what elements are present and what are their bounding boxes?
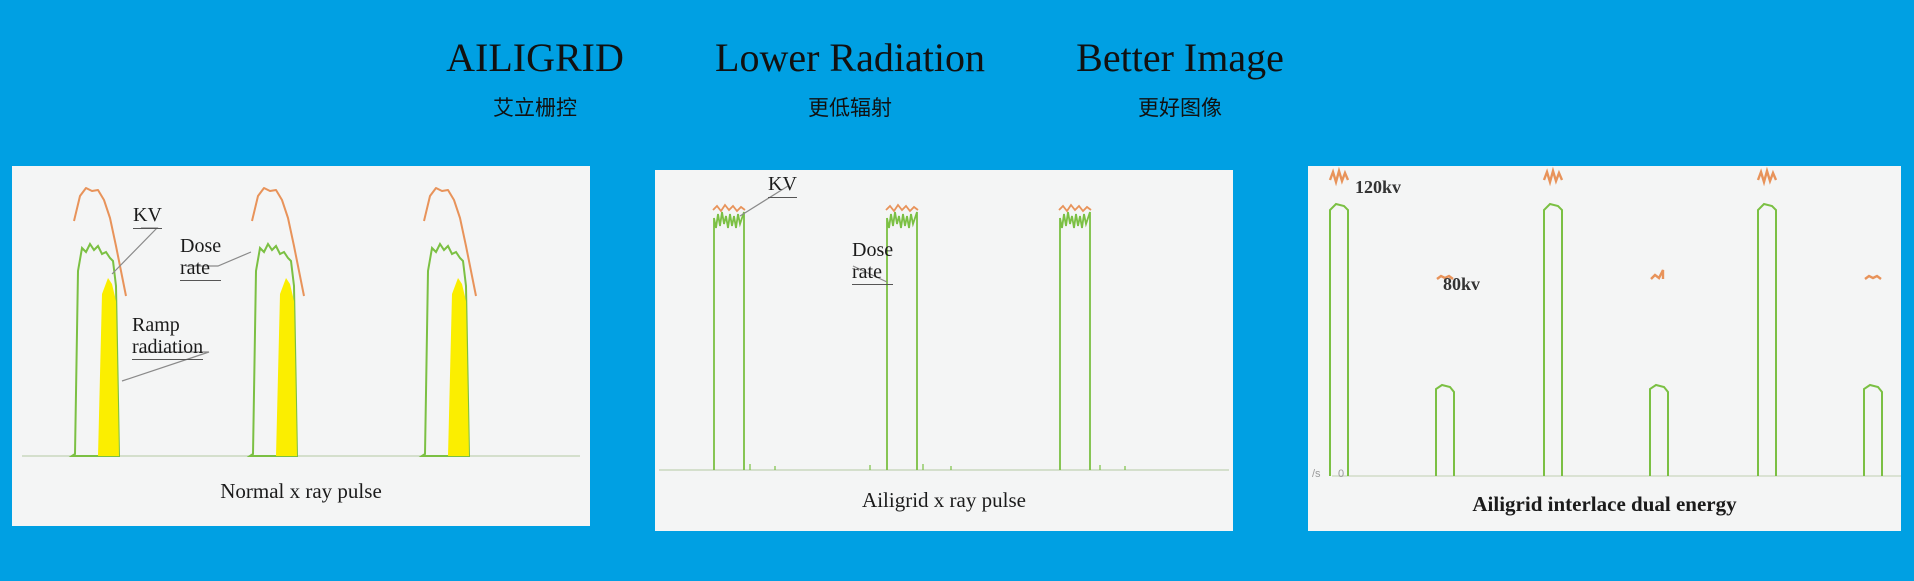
- chart-panel-dual-energy: Ailigrid interlace dual energy: [1308, 166, 1901, 531]
- panel-caption: Ailigrid x ray pulse: [655, 488, 1233, 513]
- header-column-lower-radiation: Lower Radiation 更低辐射: [640, 36, 1060, 122]
- kv-overlay-2: [886, 205, 918, 211]
- panel-caption: Ailigrid interlace dual energy: [1308, 492, 1901, 517]
- leader-line-kv: [112, 228, 157, 274]
- dose-pulse-1: [714, 212, 744, 470]
- header-column-ailigrid: AILIGRID 艾立栅控: [400, 36, 670, 122]
- kv-curve-3: [424, 188, 476, 296]
- dose-pulse-3: [1060, 212, 1090, 470]
- chart-panel-ailigrid-pulse: Ailigrid x ray pulse: [655, 170, 1233, 531]
- annotation-dose-rate: Dose rate: [852, 240, 893, 285]
- pulse-high-1: [1330, 204, 1348, 476]
- annotation-ramp-radiation: Ramp radiation: [132, 315, 203, 360]
- pulse-low-1: [1436, 385, 1454, 476]
- header-title-cn: 更好图像: [1010, 92, 1350, 122]
- header-column-better-image: Better Image 更好图像: [1010, 36, 1350, 122]
- axis-zero-tick: 0: [1338, 468, 1344, 480]
- legend-label-120kv: 120kv: [1355, 177, 1401, 198]
- kv-marker-high-1: [1330, 171, 1348, 182]
- header-banner: AILIGRID 艾立栅控 Lower Radiation 更低辐射 Bette…: [0, 0, 1914, 160]
- pulse-high-3: [1758, 204, 1776, 476]
- annotation-dose-rate: Dose rate: [180, 236, 221, 281]
- header-title-cn: 艾立栅控: [400, 92, 670, 122]
- pulse-low-2: [1650, 385, 1668, 476]
- kv-marker-high-2: [1544, 171, 1562, 182]
- kv-overlay-1: [713, 205, 745, 211]
- kv-marker-high-3: [1758, 171, 1776, 182]
- pulse-low-3: [1864, 385, 1882, 476]
- annotation-kv: KV: [768, 174, 797, 198]
- ramp-radiation-fill-2: [276, 278, 297, 456]
- baseline-ticks: [750, 464, 1125, 470]
- header-title-en: Lower Radiation: [640, 36, 1060, 80]
- header-title-en: AILIGRID: [400, 36, 670, 80]
- kv-marker-low-3: [1865, 276, 1881, 279]
- normal-pulse-waveform: [12, 166, 590, 526]
- header-title-en: Better Image: [1010, 36, 1350, 80]
- kv-curve-2: [252, 188, 304, 296]
- axis-unit-label: /s: [1312, 468, 1321, 480]
- legend-label-80kv: 80kv: [1443, 274, 1480, 295]
- header-title-cn: 更低辐射: [640, 92, 1060, 122]
- dual-energy-waveform: [1308, 166, 1901, 531]
- kv-marker-low-2: [1651, 270, 1663, 279]
- pulse-high-2: [1544, 204, 1562, 476]
- annotation-kv: KV: [133, 205, 162, 229]
- ailigrid-pulse-waveform: [655, 170, 1233, 531]
- panel-caption: Normal x ray pulse: [12, 479, 590, 504]
- kv-overlay-3: [1059, 205, 1091, 211]
- chart-panel-normal-pulse: Normal x ray pulse: [12, 166, 590, 526]
- ramp-radiation-fill-3: [448, 278, 469, 456]
